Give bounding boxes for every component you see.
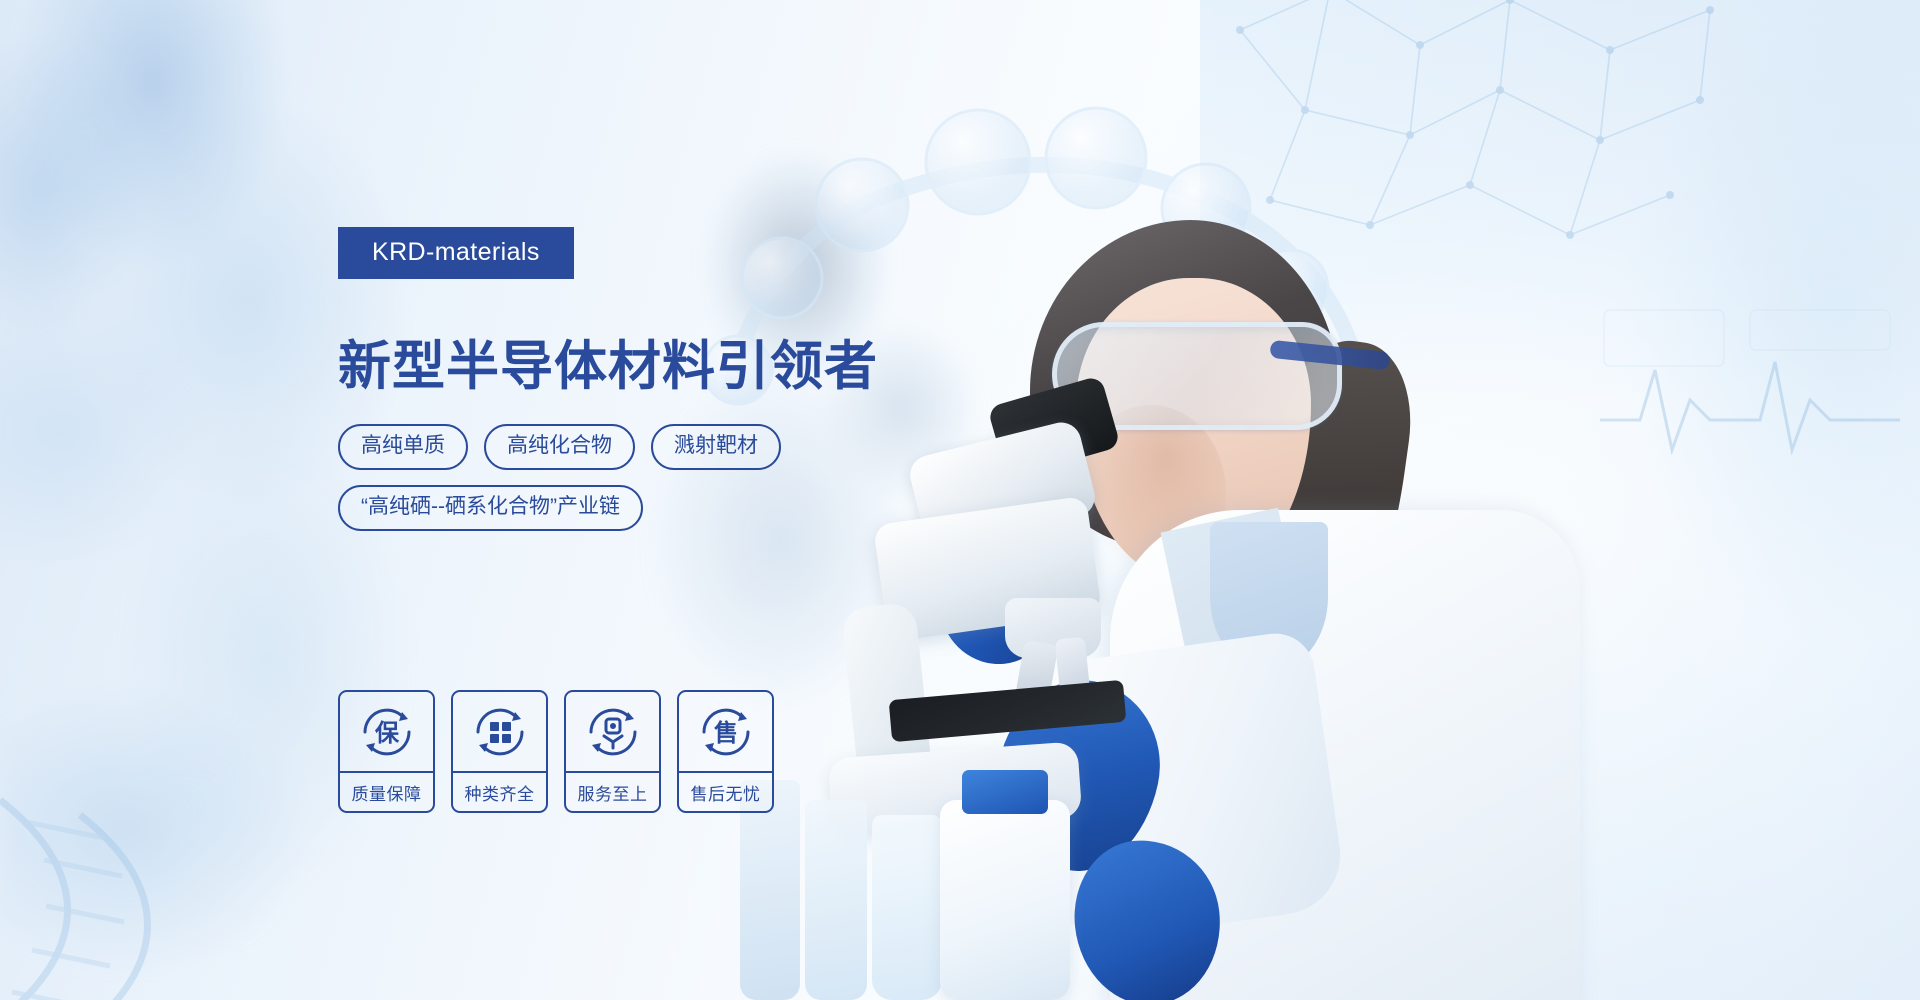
feature-full-category-label: 种类齐全 <box>453 773 546 811</box>
quality-guarantee-glyph: 保 <box>374 720 400 747</box>
after-sales-glyph: 售 <box>714 719 738 747</box>
service-first-icon <box>566 692 659 773</box>
tag-selenium-industry-chain[interactable]: “高纯硒--硒系化合物”产业链 <box>338 485 643 531</box>
tag-pure-element[interactable]: 高纯单质 <box>338 424 468 470</box>
feature-after-sales-label: 售后无忧 <box>679 773 772 811</box>
after-sales-icon: 售 <box>679 692 772 773</box>
feature-service-first-label: 服务至上 <box>566 773 659 811</box>
hero-content: KRD-materials 新型半导体材料引领者 高纯单质 高纯化合物 溅射靶材… <box>338 0 1038 1000</box>
brand-badge: KRD-materials <box>338 227 574 279</box>
waveform-icon <box>1600 300 1900 480</box>
tag-row-primary: 高纯单质 高纯化合物 溅射靶材 <box>338 424 781 470</box>
dna-helix-icon <box>0 620 390 1000</box>
tag-row-secondary: “高纯硒--硒系化合物”产业链 <box>338 485 643 531</box>
full-category-icon <box>453 692 546 773</box>
feature-list: 保 质量保障 <box>338 690 774 813</box>
quality-guarantee-icon: 保 <box>340 692 433 773</box>
feature-full-category[interactable]: 种类齐全 <box>451 690 548 813</box>
feature-quality-guarantee-label: 质量保障 <box>340 773 433 811</box>
feature-after-sales[interactable]: 售 售后无忧 <box>677 690 774 813</box>
hero-banner: KRD-materials 新型半导体材料引领者 高纯单质 高纯化合物 溅射靶材… <box>0 0 1920 1000</box>
feature-service-first[interactable]: 服务至上 <box>564 690 661 813</box>
tag-pure-compound[interactable]: 高纯化合物 <box>484 424 635 470</box>
page-title: 新型半导体材料引领者 <box>338 338 878 396</box>
feature-quality-guarantee[interactable]: 保 质量保障 <box>338 690 435 813</box>
tag-sputter-target[interactable]: 溅射靶材 <box>651 424 781 470</box>
